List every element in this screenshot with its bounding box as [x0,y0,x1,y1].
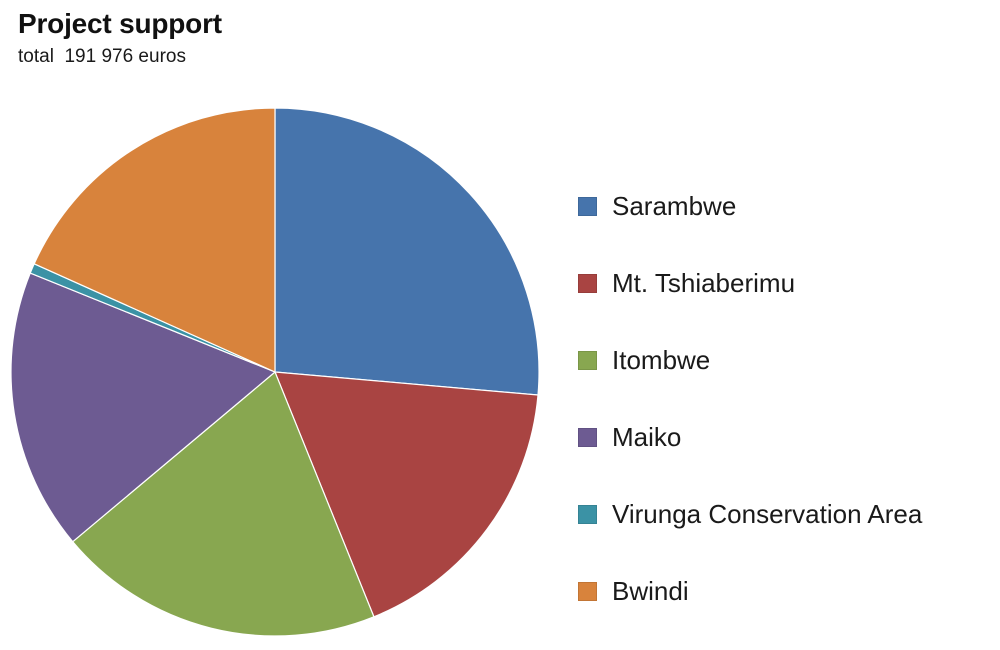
legend-item-itombwe[interactable]: Itombwe [578,322,1000,399]
legend-swatch-bwindi [578,582,597,601]
legend-swatch-mt-tshiaberimu [578,274,597,293]
chart-subtitle-total: total 191 976 euros [18,46,222,68]
legend-swatch-itombwe [578,351,597,370]
legend-item-virunga-conservation-area[interactable]: Virunga Conservation Area [578,476,1000,553]
legend-item-maiko[interactable]: Maiko [578,399,1000,476]
legend-label-virunga-conservation-area: Virunga Conservation Area [612,500,922,529]
pie-plot-area [0,96,560,650]
legend-item-sarambwe[interactable]: Sarambwe [578,168,1000,245]
legend-label-mt-tshiaberimu: Mt. Tshiaberimu [612,269,795,298]
legend-label-itombwe: Itombwe [612,346,710,375]
legend-swatch-virunga-conservation-area [578,505,597,524]
legend-item-mt-tshiaberimu[interactable]: Mt. Tshiaberimu [578,245,1000,322]
legend-swatch-maiko [578,428,597,447]
legend-swatch-sarambwe [578,197,597,216]
pie-slice-sarambwe[interactable] [275,108,539,395]
legend-label-bwindi: Bwindi [612,577,689,606]
pie-chart-figure: Project support total 191 976 euros Sara… [0,0,1000,650]
page-title: Project support [18,8,222,40]
legend-label-maiko: Maiko [612,423,681,452]
legend-label-sarambwe: Sarambwe [612,192,736,221]
pie-svg [0,96,560,650]
legend-item-bwindi[interactable]: Bwindi [578,553,1000,630]
chart-legend: SarambweMt. TshiaberimuItombweMaikoVirun… [578,168,1000,630]
chart-header: Project support total 191 976 euros [18,8,222,68]
